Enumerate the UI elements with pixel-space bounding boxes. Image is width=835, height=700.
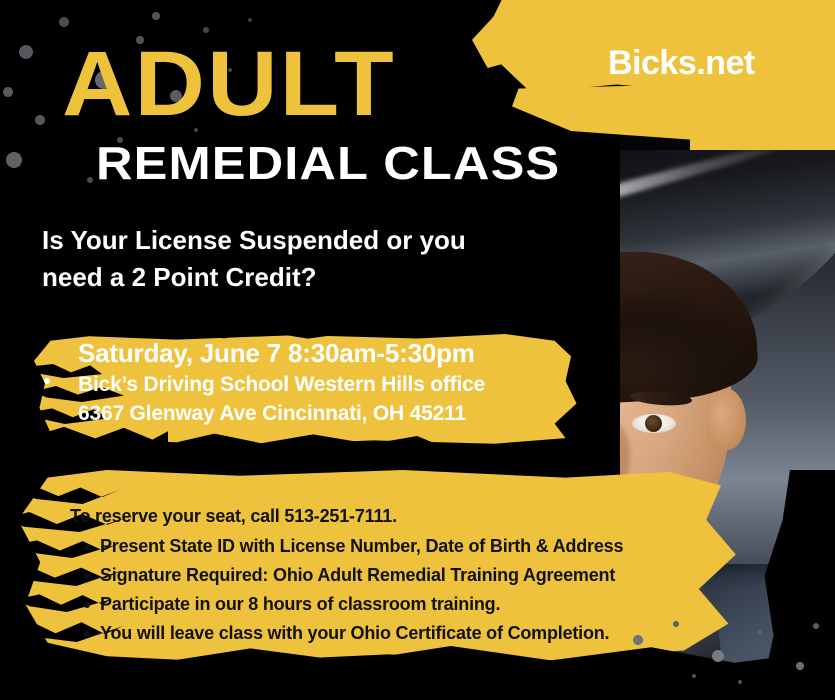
event-address: 6367 Glenway Ave Cincinnati, OH 45211 [78, 399, 578, 429]
info-banner-speck [44, 378, 50, 384]
requirements-list: Present State ID with License Number, Da… [78, 532, 623, 649]
event-date-time: Saturday, June 7 8:30am-5:30pm [78, 337, 578, 370]
person-eye-right [632, 414, 676, 433]
flyer-canvas: ADULT REMEDIAL CLASS Bicks.net Is Your L… [0, 0, 835, 700]
reserve-phone-line[interactable]: To reserve your seat, call 513-251-7111. [70, 506, 397, 527]
question-line-1: Is Your License Suspended or you [42, 222, 562, 259]
list-item: Participate in our 8 hours of classroom … [100, 590, 623, 619]
event-location: Bick’s Driving School Western Hills offi… [78, 370, 578, 400]
footer-speckle-texture [600, 612, 835, 700]
list-item: Signature Required: Ohio Adult Remedial … [100, 561, 623, 590]
headline-remedial-class: REMEDIAL CLASS [96, 140, 560, 186]
person-iris-right [645, 415, 662, 432]
list-item: Present State ID with License Number, Da… [100, 532, 623, 561]
brand-wordmark[interactable]: Bicks.net [608, 44, 755, 83]
headline-adult: ADULT [62, 38, 396, 130]
event-info: Saturday, June 7 8:30am-5:30pm Bick’s Dr… [78, 337, 578, 429]
question-line-2: need a 2 Point Credit? [42, 259, 562, 296]
list-item: You will leave class with your Ohio Cert… [100, 619, 623, 648]
person-ear [706, 388, 746, 450]
question-text: Is Your License Suspended or you need a … [42, 222, 562, 296]
